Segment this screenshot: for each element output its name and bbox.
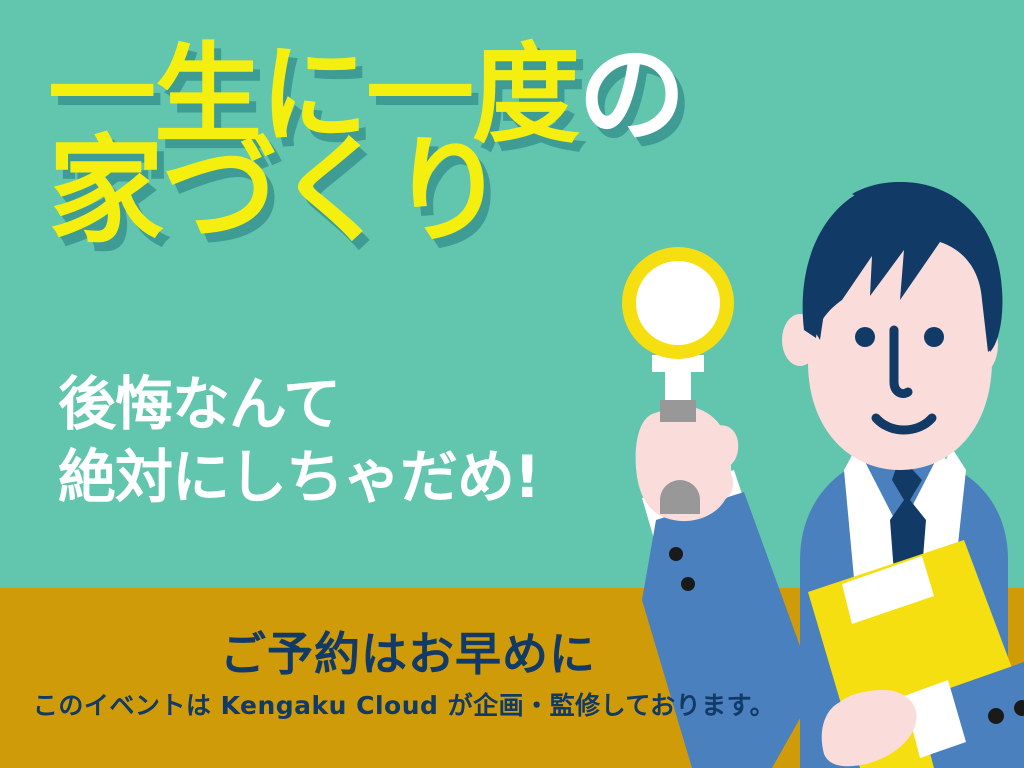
subtitle-line-2: 絶対にしちゃだめ! — [58, 441, 539, 514]
illustration-businessman — [604, 0, 1024, 768]
right-eye — [924, 327, 944, 347]
magnifier-icon — [622, 247, 734, 426]
left-eye — [855, 327, 875, 347]
poster-canvas: 一生に一度の 家づくり 後悔なんて 絶対にしちゃだめ! ご予約はお早めに このイ… — [0, 0, 1024, 768]
left-hand — [636, 400, 739, 521]
sleeve-button — [681, 577, 695, 591]
subtitle-line-1: 後悔なんて — [58, 368, 539, 441]
left-suit-sleeve — [642, 492, 816, 768]
sleeve-button — [988, 708, 1004, 724]
headline-line-1-yellow: 一生に一度 — [48, 33, 578, 158]
subtitle: 後悔なんて 絶対にしちゃだめ! — [58, 368, 539, 514]
sleeve-button — [669, 547, 683, 561]
